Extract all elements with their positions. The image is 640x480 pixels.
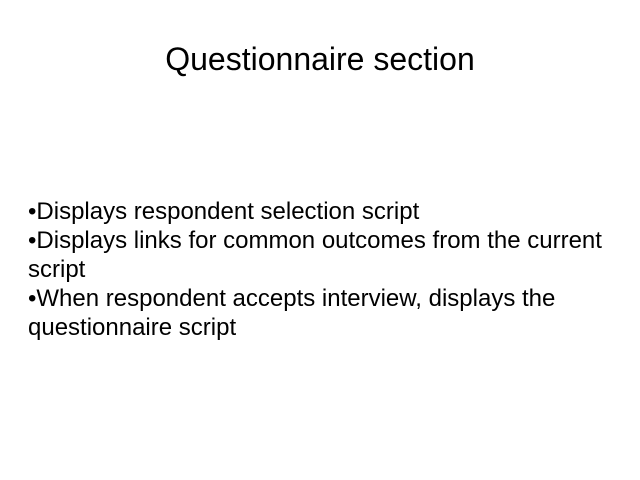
- slide-body-text: •Displays respondent selection script •D…: [28, 197, 616, 342]
- list-item-label: When respondent accepts interview, displ…: [28, 285, 555, 341]
- list-item-label: Displays links for common outcomes from …: [28, 227, 602, 283]
- slide-canvas: Questionnaire section •Displays responde…: [0, 0, 640, 480]
- list-item: •When respondent accepts interview, disp…: [28, 284, 616, 342]
- list-item: •Displays links for common outcomes from…: [28, 226, 616, 284]
- page-title: Questionnaire section: [0, 40, 640, 78]
- list-item: •Displays respondent selection script: [28, 197, 616, 226]
- list-item-label: Displays respondent selection script: [36, 198, 419, 225]
